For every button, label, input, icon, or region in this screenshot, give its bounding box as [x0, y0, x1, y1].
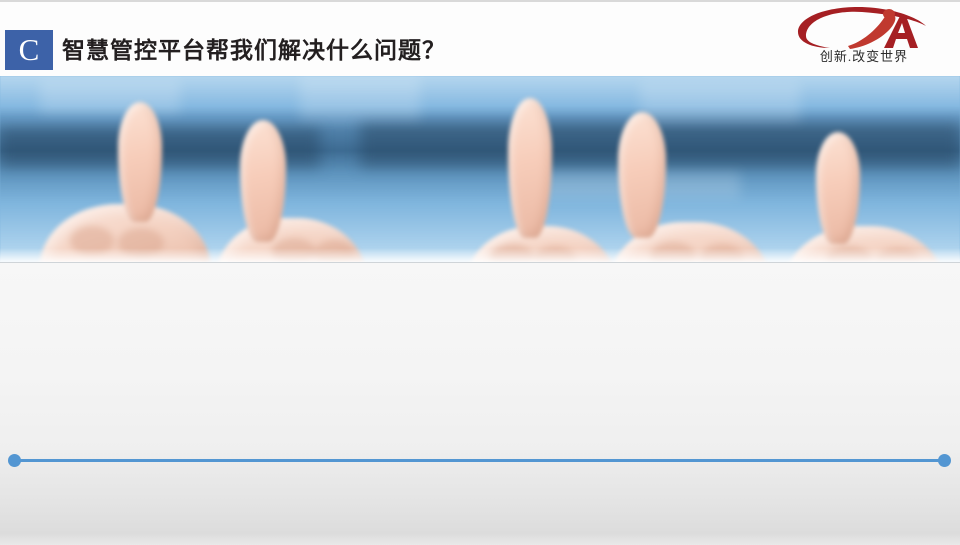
hero-blur-highlight: [40, 80, 180, 114]
hero-blur-highlight: [640, 82, 800, 122]
hero-bottom-fade: [0, 248, 960, 262]
ja-swoosh-icon: [788, 6, 940, 50]
company-logo: 创新.改变世界: [788, 6, 940, 72]
hero-image: [0, 76, 960, 263]
page-title: 智慧管控平台帮我们解决什么问题？: [62, 31, 446, 69]
slide-header: C 智慧管控平台帮我们解决什么问题？ 创新.改变世界: [0, 2, 960, 76]
accent-rule-dot-left: [8, 454, 21, 467]
feature-band: 高效运维 降低成本 节能减排 安保强化 通过实时数据采集，更加高效的获取实时信息…: [0, 263, 960, 450]
slide-root: C 智慧管控平台帮我们解决什么问题？ 创新.改变世界: [0, 0, 960, 545]
slide-footer: 提高智慧园区的整体运营服务水平 、经济效益以及品牌影响力！: [0, 450, 960, 545]
logo-tagline: 创新.改变世界: [788, 46, 940, 65]
accent-rule: [14, 459, 946, 462]
hero-blur-highlight: [300, 76, 420, 120]
accent-rule-dot-right: [938, 454, 951, 467]
section-badge-c: C: [5, 30, 53, 70]
